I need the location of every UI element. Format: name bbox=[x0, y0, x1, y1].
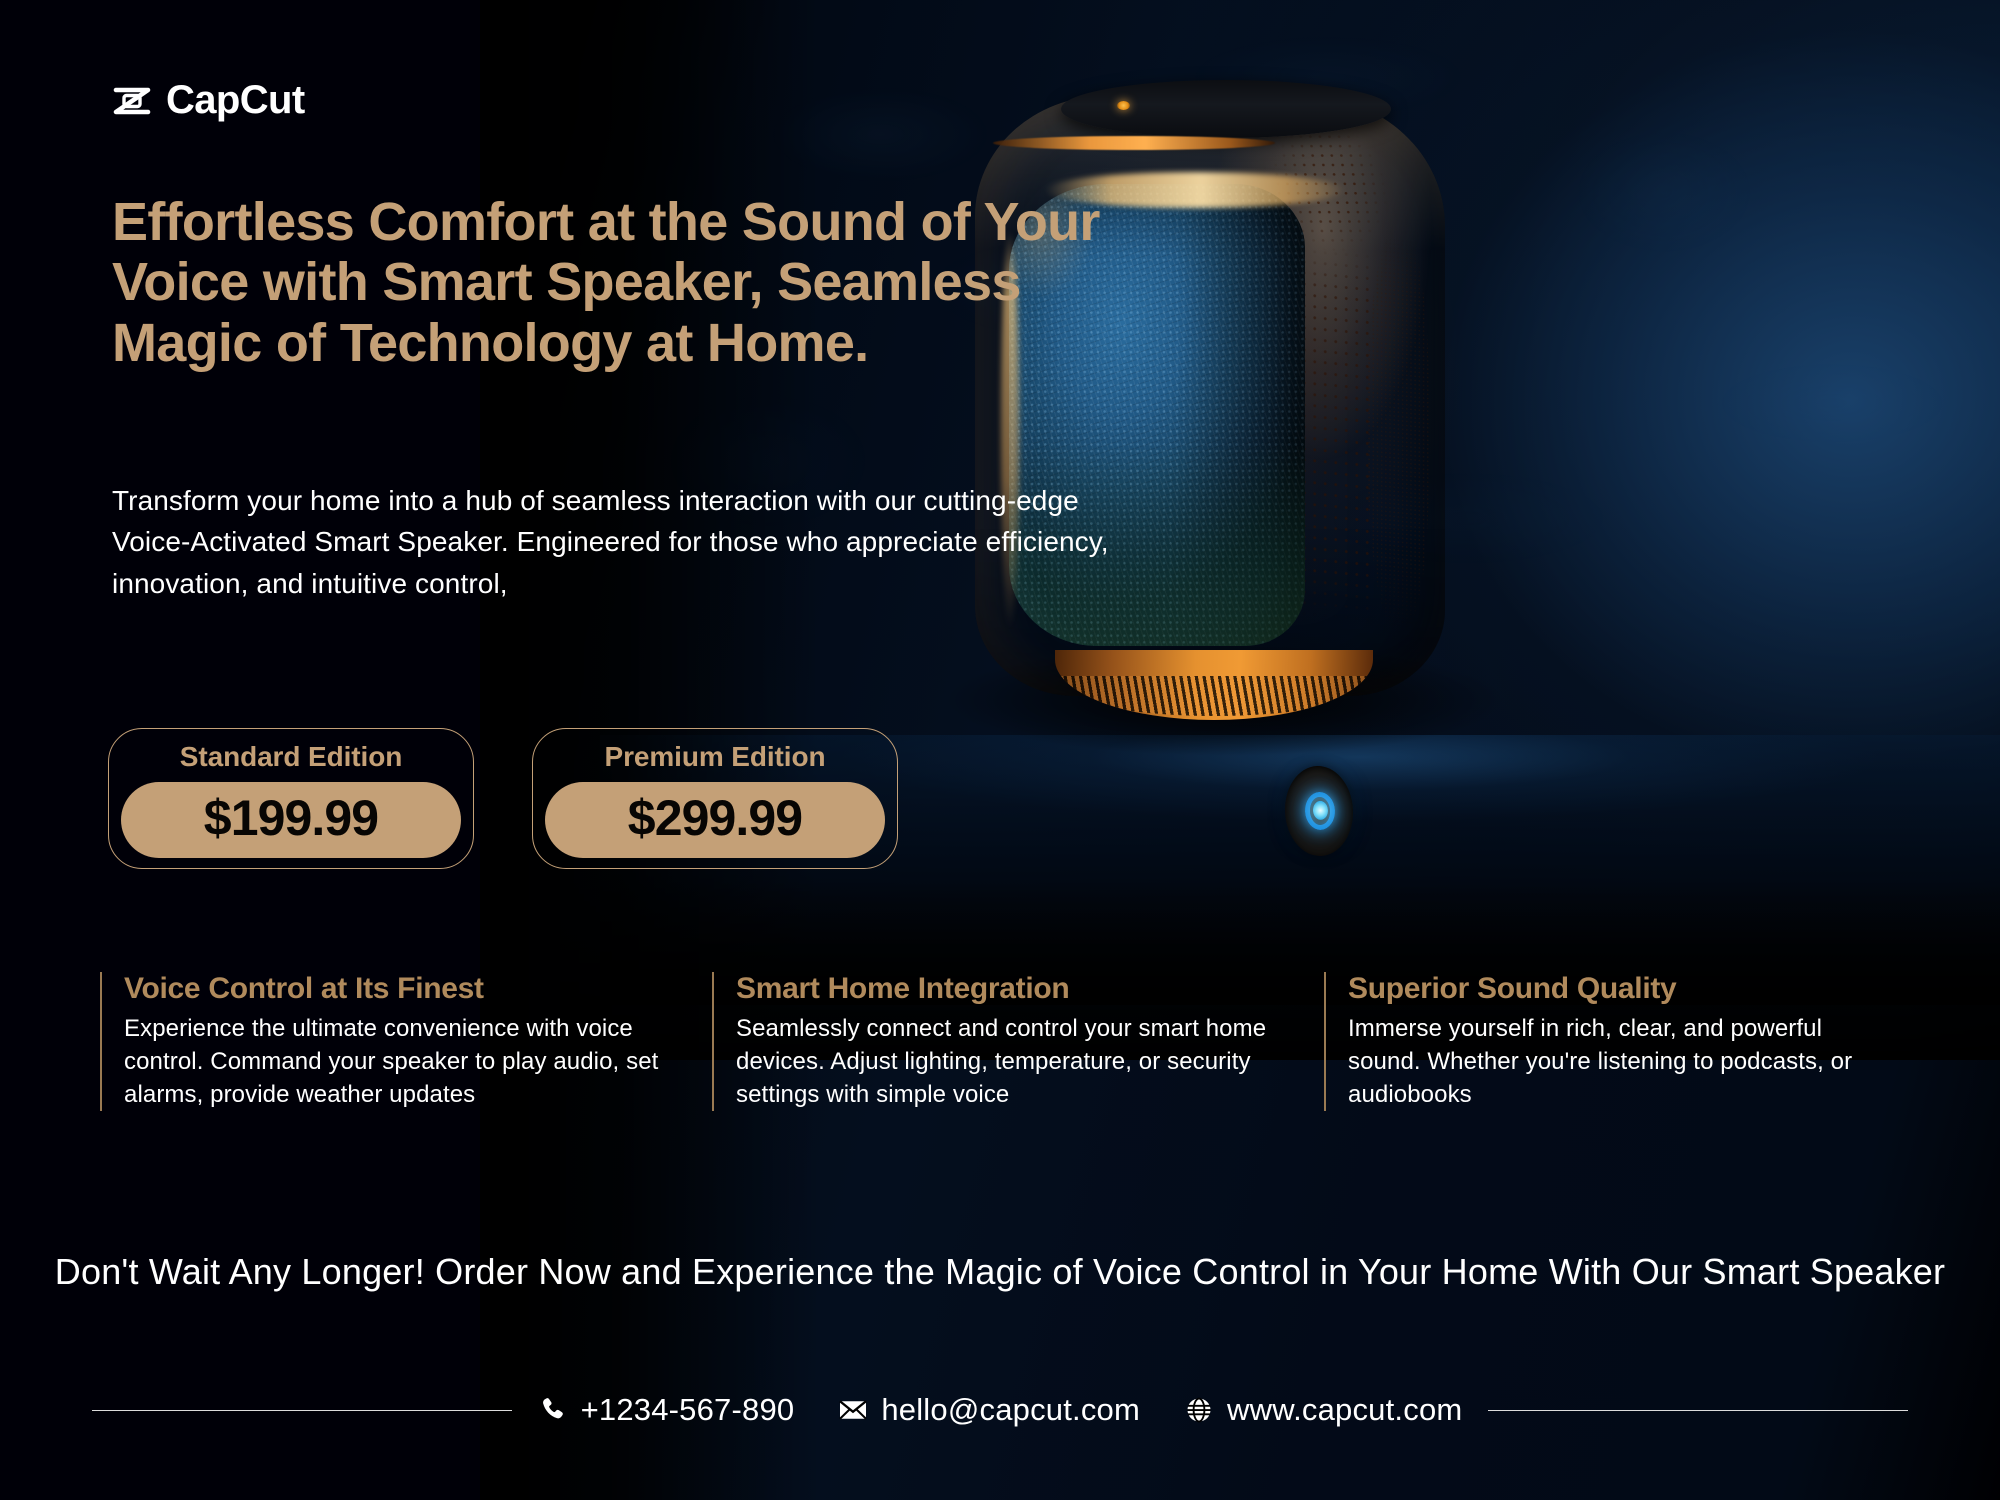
page-title: Effortless Comfort at the Sound of Your … bbox=[112, 192, 1172, 373]
feature-item-voice-control: Voice Control at Its Finest Experience t… bbox=[100, 972, 660, 1111]
brand-logo: CapCut bbox=[112, 78, 305, 123]
hero-description: Transform your home into a hub of seamle… bbox=[112, 480, 1112, 604]
pricing-card-premium[interactable]: Premium Edition $299.99 bbox=[532, 728, 898, 869]
contact-footer: +1234-567-890 hello@capcut.com bbox=[0, 1392, 2000, 1428]
feature-body: Seamlessly connect and control your smar… bbox=[736, 1012, 1272, 1111]
feature-item-smart-home: Smart Home Integration Seamlessly connec… bbox=[712, 972, 1272, 1111]
feature-title: Smart Home Integration bbox=[736, 972, 1272, 1006]
contact-email-text: hello@capcut.com bbox=[881, 1392, 1140, 1428]
contact-website[interactable]: www.capcut.com bbox=[1184, 1392, 1462, 1428]
pricing-amount: $199.99 bbox=[121, 782, 461, 858]
pricing-label: Premium Edition bbox=[545, 741, 885, 773]
feature-title: Voice Control at Its Finest bbox=[124, 972, 660, 1006]
feature-body: Experience the ultimate convenience with… bbox=[124, 1012, 660, 1111]
contact-list: +1234-567-890 hello@capcut.com bbox=[538, 1392, 1463, 1428]
contact-phone[interactable]: +1234-567-890 bbox=[538, 1392, 795, 1428]
brand-name: CapCut bbox=[166, 78, 305, 123]
speaker-status-led-amber-icon bbox=[1117, 101, 1130, 110]
capcut-logo-icon bbox=[112, 81, 152, 121]
speaker-top-cap bbox=[1061, 80, 1391, 138]
speaker-perforation-column bbox=[1299, 245, 1369, 623]
speaker-base-lip bbox=[993, 136, 1275, 150]
pricing-label: Standard Edition bbox=[121, 741, 461, 773]
contact-phone-text: +1234-567-890 bbox=[581, 1392, 795, 1428]
speaker-perforation-fine bbox=[1367, 227, 1429, 634]
feature-body: Immerse yourself in rich, clear, and pow… bbox=[1348, 1012, 1884, 1111]
pricing-amount: $299.99 bbox=[545, 782, 885, 858]
contact-website-text: www.capcut.com bbox=[1227, 1392, 1462, 1428]
globe-icon bbox=[1184, 1395, 1214, 1425]
envelope-icon bbox=[838, 1395, 868, 1425]
smart-speaker-product-image bbox=[975, 80, 1465, 720]
feature-columns: Voice Control at Its Finest Experience t… bbox=[100, 972, 1930, 1111]
footer-rule-right bbox=[1488, 1410, 1908, 1411]
feature-item-sound-quality: Superior Sound Quality Immerse yourself … bbox=[1324, 972, 1884, 1111]
pricing-group: Standard Edition $199.99 Premium Edition… bbox=[108, 728, 898, 869]
call-to-action-text: Don't Wait Any Longer! Order Now and Exp… bbox=[0, 1248, 2000, 1296]
pricing-card-standard[interactable]: Standard Edition $199.99 bbox=[108, 728, 474, 869]
contact-email[interactable]: hello@capcut.com bbox=[838, 1392, 1140, 1428]
phone-icon bbox=[538, 1395, 568, 1425]
footer-rule-left bbox=[92, 1410, 512, 1411]
feature-title: Superior Sound Quality bbox=[1348, 972, 1884, 1006]
